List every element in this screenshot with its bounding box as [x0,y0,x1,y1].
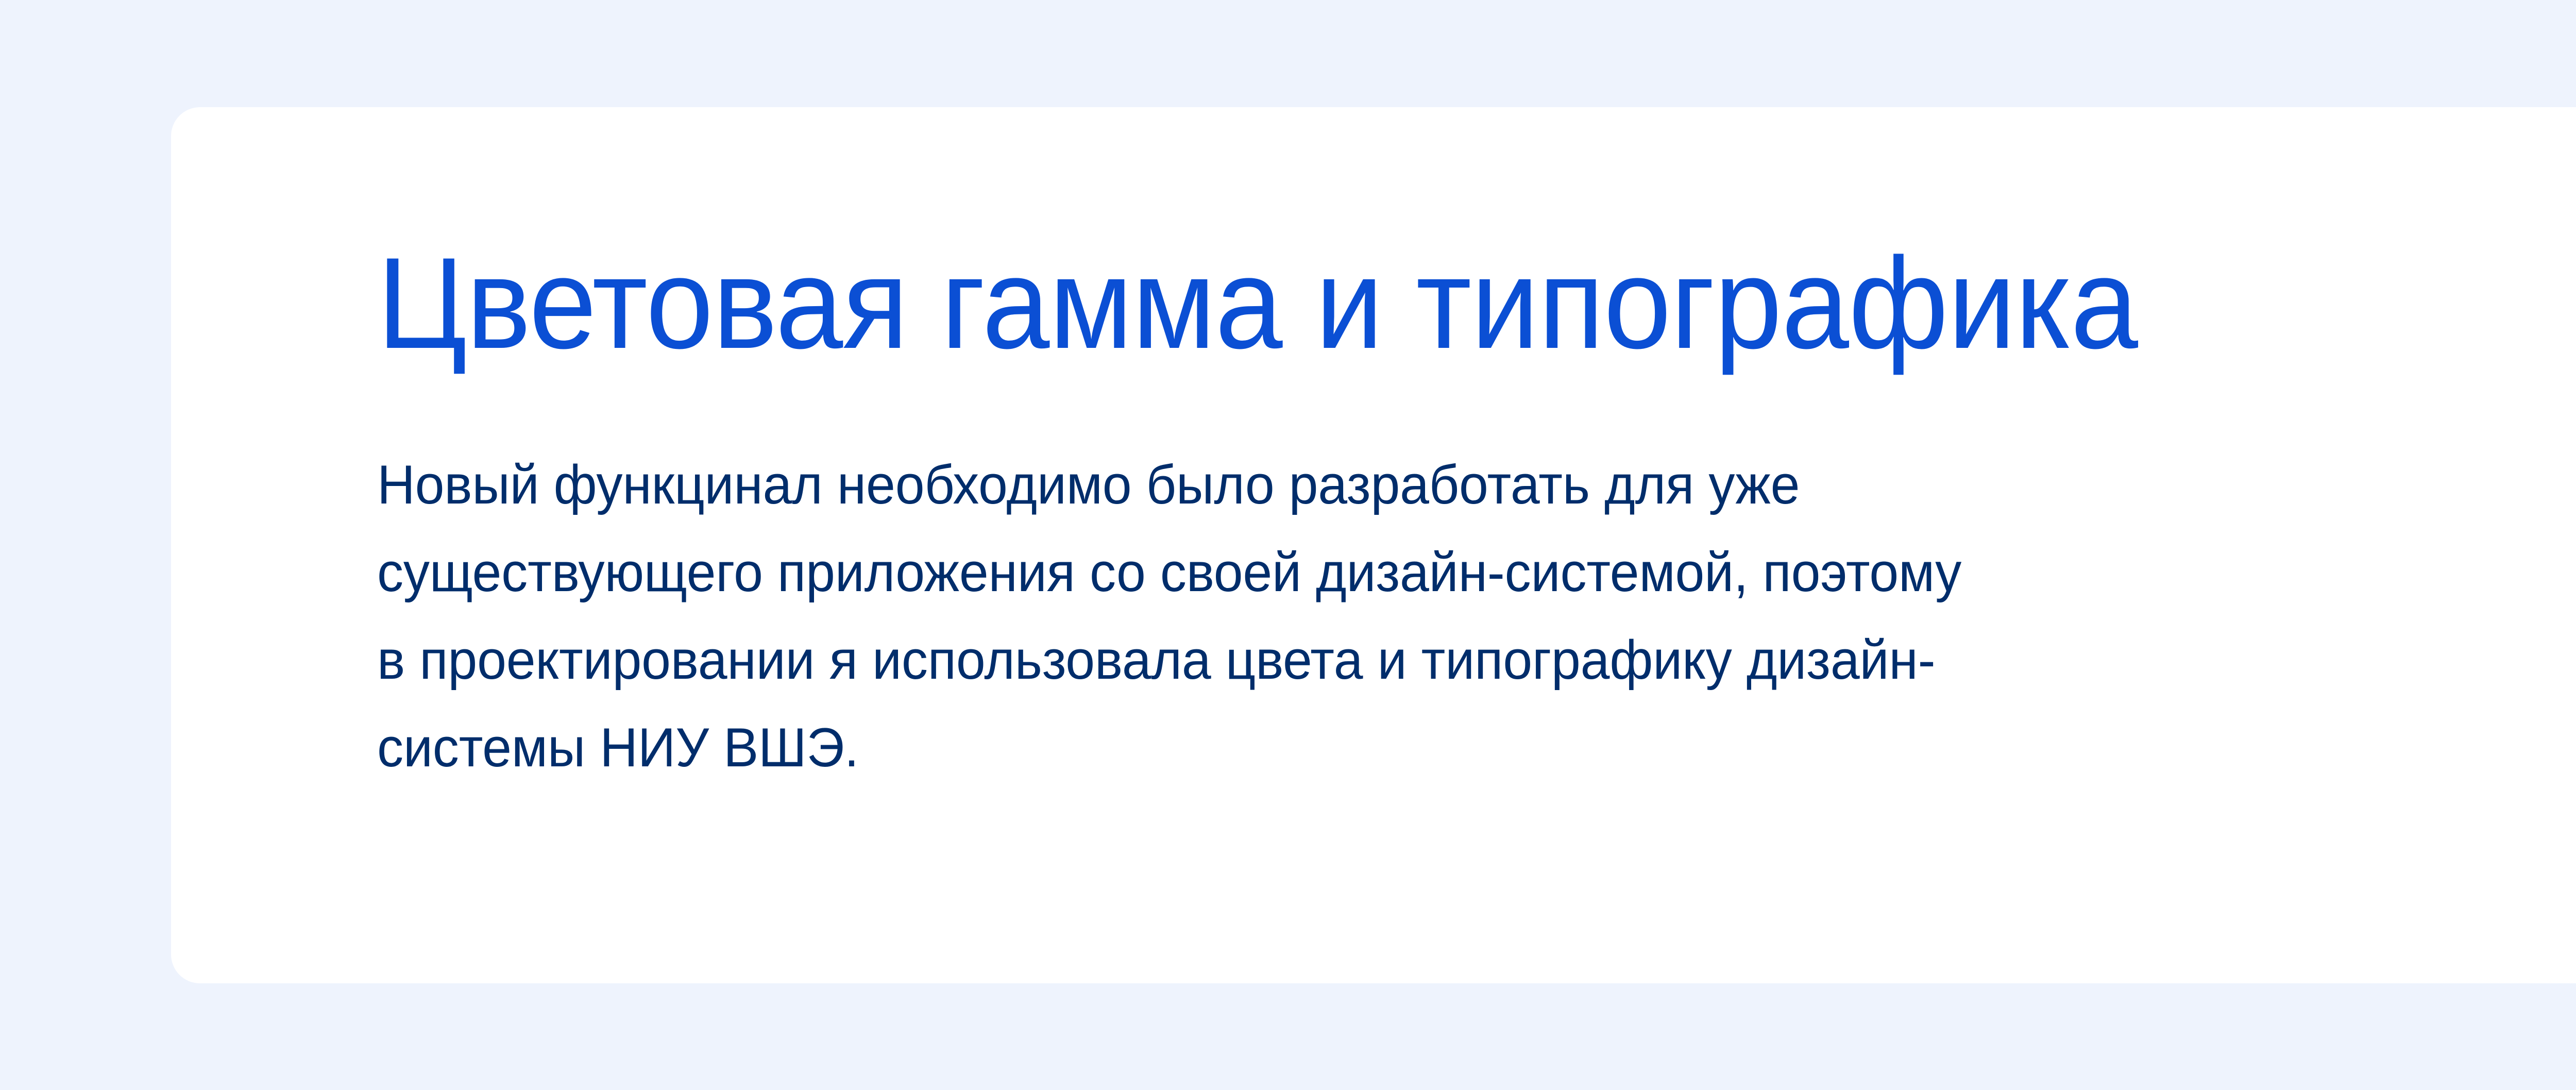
page-root: Цветовая гамма и типографика Новый функц… [0,0,2576,1090]
description-line: в проектировании я использовала цвета и … [377,616,2444,703]
page-title: Цветовая гамма и типографика [377,236,2400,371]
description-line: существующего приложения со своей дизайн… [377,528,2444,616]
text-block: Цветовая гамма и типографика Новый функц… [377,236,2541,791]
description-line: Новый функцинал необходимо было разработ… [377,441,2444,528]
section-description: Новый функцинал необходимо было разработ… [377,371,2444,791]
description-line: системы НИУ ВШЭ. [377,703,2444,791]
content-card: Цветовая гамма и типографика Новый функц… [171,107,2576,983]
